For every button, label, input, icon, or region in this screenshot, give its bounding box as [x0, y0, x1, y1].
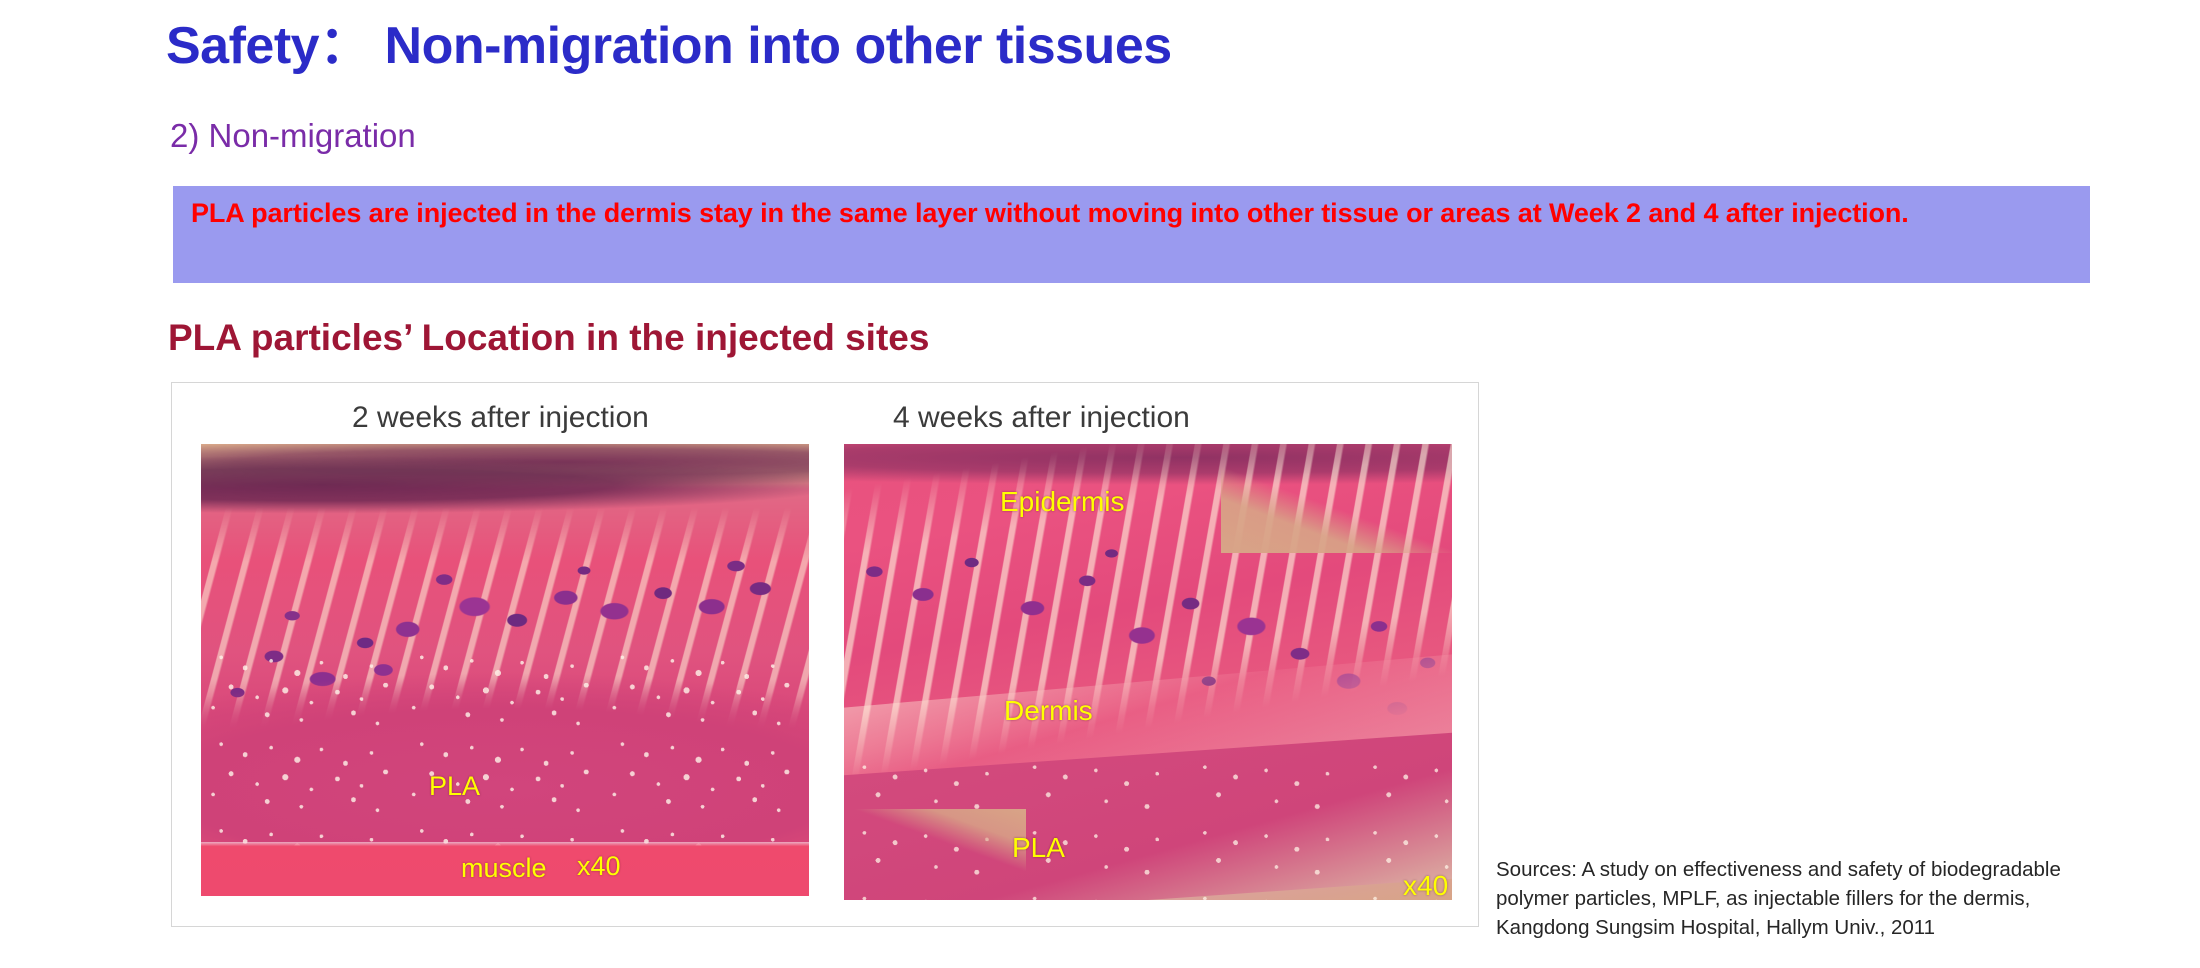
sources-note: Sources: A study on effectiveness and sa… [1496, 855, 2116, 942]
figure-caption-4-weeks: 4 weeks after injection [893, 401, 1190, 435]
pla-particle-vacuole-layer [201, 647, 809, 864]
micrograph-label-magnification: x40 [577, 853, 621, 880]
sub-heading: 2) Non-migration [170, 118, 416, 154]
callout-text: PLA particles are injected in the dermis… [191, 196, 2076, 232]
micrograph-label-pla: PLA [429, 773, 480, 800]
section-heading: PLA particles’ Location in the injected … [168, 318, 929, 359]
micrograph-label-epidermis: Epidermis [1000, 488, 1124, 516]
micrograph-label-pla: PLA [1012, 834, 1065, 862]
callout-box: PLA particles are injected in the dermis… [173, 186, 2090, 283]
slide-edge-corner-bottom [844, 809, 1026, 900]
slide-edge-corner-top [1221, 444, 1452, 553]
micrograph-label-magnification: x40 [1403, 872, 1448, 900]
micrograph-label-muscle: muscle [461, 855, 547, 882]
micrograph-4-weeks: Epidermis Dermis PLA x40 [844, 444, 1452, 900]
page-title: Safety： Non-migration into other tissues [166, 18, 1172, 75]
micrograph-2-weeks: PLA muscle x40 [201, 444, 809, 896]
micrograph-label-dermis: Dermis [1004, 697, 1093, 725]
figure-panel: 2 weeks after injection 4 weeks after in… [171, 382, 1479, 927]
figure-caption-2-weeks: 2 weeks after injection [352, 401, 649, 435]
